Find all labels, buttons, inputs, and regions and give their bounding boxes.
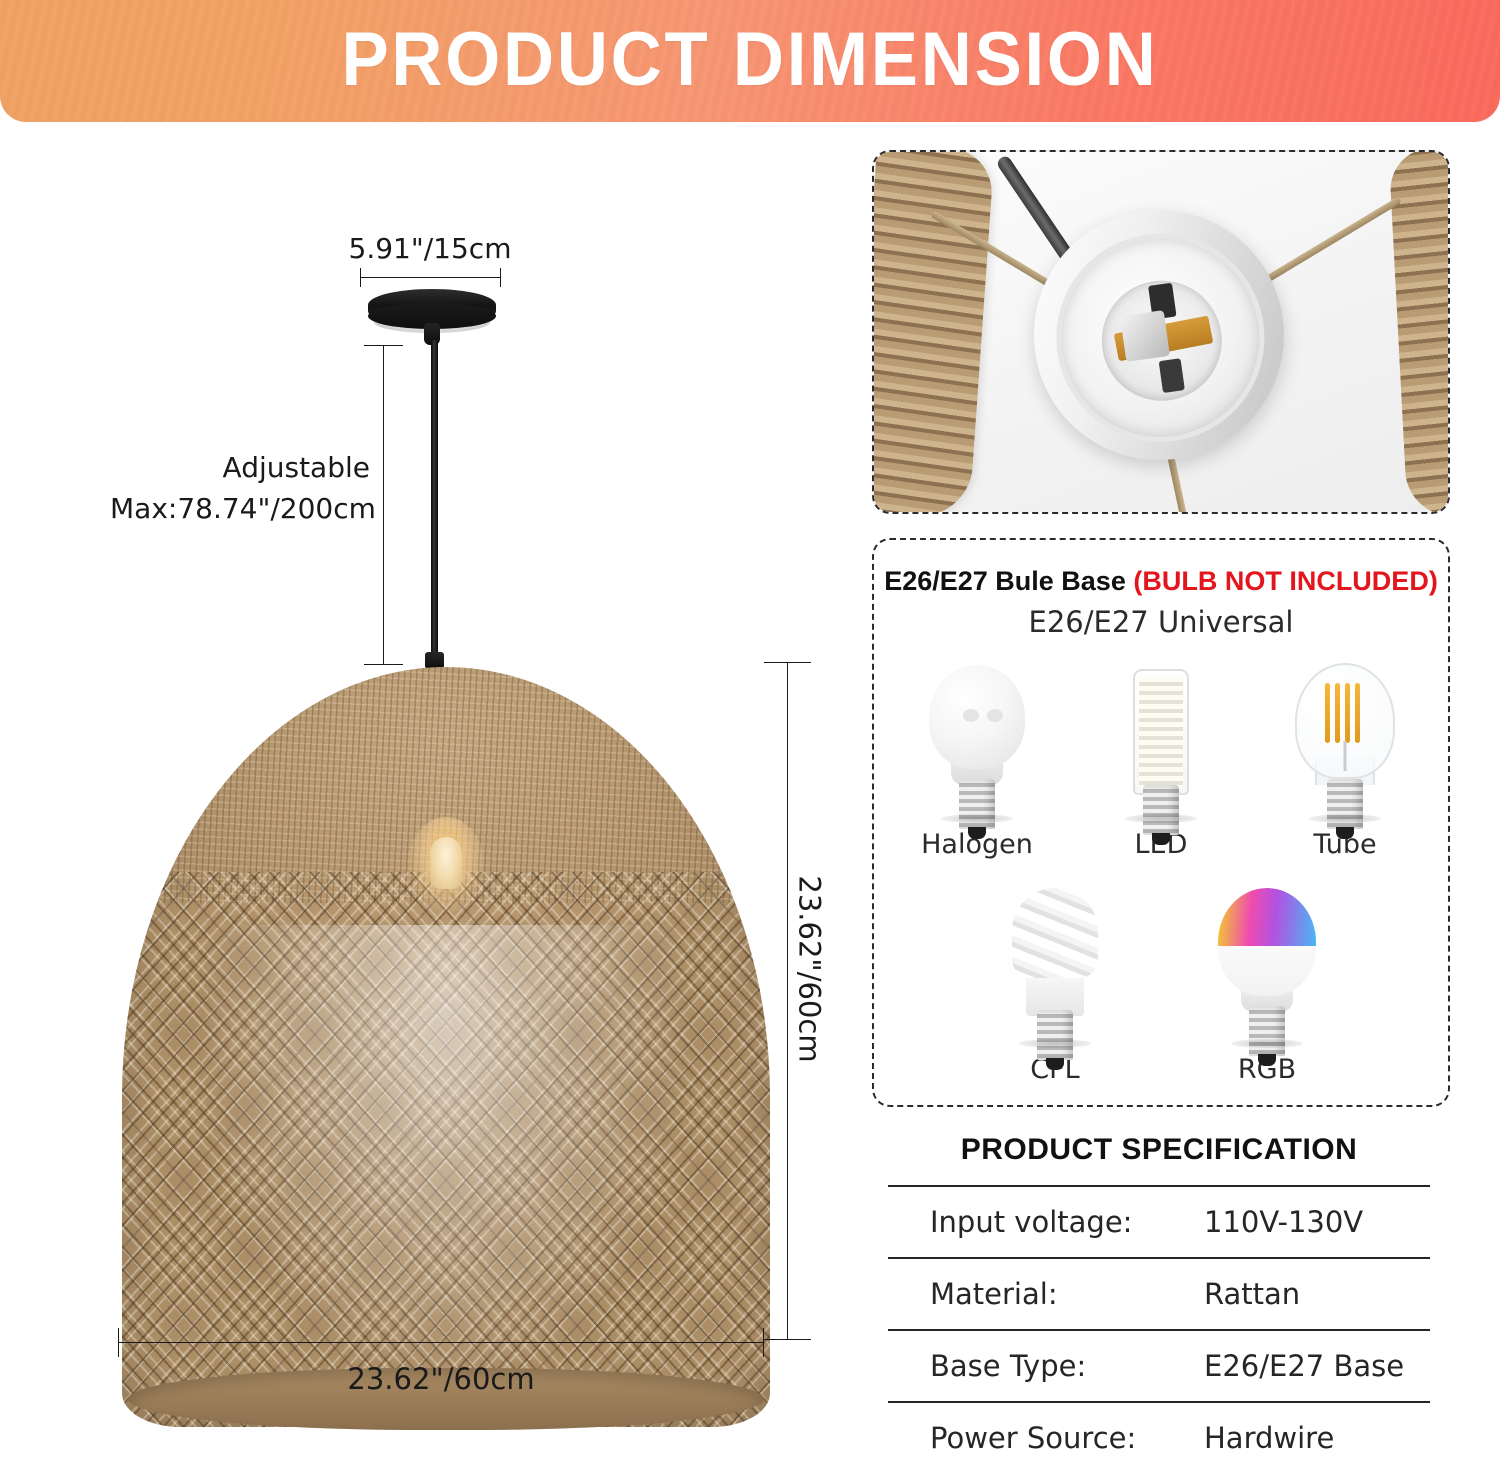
adjustable-line-1: Adjustable <box>110 447 370 488</box>
table-row: Power Source: Hardwire <box>888 1402 1430 1473</box>
socket-silver-contact <box>1120 310 1170 362</box>
specification-table: Input voltage: 110V-130V Material: Ratta… <box>888 1185 1430 1473</box>
shade-body <box>122 667 770 1427</box>
canopy-width-label: 5.91"/15cm <box>330 232 530 265</box>
socket-interior <box>1094 273 1230 409</box>
rattan-shade <box>122 667 770 1440</box>
spec-value-input-voltage: 110V-130V <box>1190 1186 1430 1258</box>
shade-height-label: 23.62"/60cm <box>793 875 827 1062</box>
hanging-cord <box>431 340 438 660</box>
ceiling-canopy <box>368 289 496 337</box>
spec-key-input-voltage: Input voltage: <box>888 1186 1190 1258</box>
table-row: Base Type: E26/E27 Base <box>888 1330 1430 1402</box>
shade-width-dimension-line <box>118 1342 764 1343</box>
cfl-spiral-bulb-icon <box>991 882 1119 1050</box>
bulb-base-title: E26/E27 Bule Base (BULB NOT INCLUDED) <box>874 566 1448 597</box>
bulb-item-halogen: Halogen <box>913 657 1041 860</box>
rgb-bulb-icon <box>1203 882 1331 1050</box>
bulb-item-cfl: CFL <box>991 882 1119 1085</box>
table-row: Material: Rattan <box>888 1258 1430 1330</box>
shade-bulb <box>430 837 462 889</box>
product-diagram: 5.91"/15cm Adjustable Max:78.74"/200cm <box>0 122 860 1452</box>
product-dimension-page: PRODUCT DIMENSION 5.91"/15cm Adjustable … <box>0 0 1500 1452</box>
spec-key-base-type: Base Type: <box>888 1330 1190 1402</box>
spec-key-material: Material: <box>888 1258 1190 1330</box>
led-corn-bulb-icon <box>1097 657 1225 825</box>
header-banner: PRODUCT DIMENSION <box>0 0 1500 122</box>
bulb-base-subtitle: E26/E27 Universal <box>874 605 1448 639</box>
specification-title: PRODUCT SPECIFICATION <box>872 1133 1446 1167</box>
adjustable-length-label: Adjustable Max:78.74"/200cm <box>110 447 370 529</box>
canopy-width-dimension-line <box>360 277 501 278</box>
spec-key-power-source: Power Source: <box>888 1402 1190 1473</box>
shade-height-dimension-line <box>787 662 788 1340</box>
socket-slot-bottom <box>1159 358 1185 393</box>
bulb-row-2: CFL RGB <box>874 882 1448 1085</box>
bulb-base-panel: E26/E27 Bule Base (BULB NOT INCLUDED) E2… <box>872 538 1450 1107</box>
page-title: PRODUCT DIMENSION <box>53 16 1448 104</box>
cord-length-dimension-line <box>383 345 384 665</box>
halogen-bulb-icon <box>913 657 1041 825</box>
socket-photo-frame <box>872 150 1450 514</box>
socket-photo <box>874 152 1448 512</box>
bulb-item-rgb: RGB <box>1203 882 1331 1085</box>
right-column: E26/E27 Bule Base (BULB NOT INCLUDED) E2… <box>872 150 1450 1473</box>
bulb-item-led: LED <box>1097 657 1225 860</box>
shade-inner-light <box>200 925 692 1396</box>
rattan-rim-left <box>872 150 995 514</box>
bulb-base-title-black: E26/E27 Bule Base <box>884 566 1133 596</box>
bulb-row-1: Halogen LED <box>874 657 1448 860</box>
filament-bulb-icon <box>1281 657 1409 825</box>
spec-value-power-source: Hardwire <box>1190 1402 1430 1473</box>
table-row: Input voltage: 110V-130V <box>888 1186 1430 1258</box>
adjustable-line-2: Max:78.74"/200cm <box>110 488 370 529</box>
spec-value-base-type: E26/E27 Base <box>1190 1330 1430 1402</box>
shade-width-label: 23.62"/60cm <box>118 1362 764 1396</box>
socket-outer-ring <box>1043 220 1278 455</box>
specification-section: PRODUCT SPECIFICATION Input voltage: 110… <box>872 1133 1446 1473</box>
spec-value-material: Rattan <box>1190 1258 1430 1330</box>
bulb-item-tube: Tube <box>1281 657 1409 860</box>
bulb-not-included-note: (BULB NOT INCLUDED) <box>1133 566 1437 596</box>
